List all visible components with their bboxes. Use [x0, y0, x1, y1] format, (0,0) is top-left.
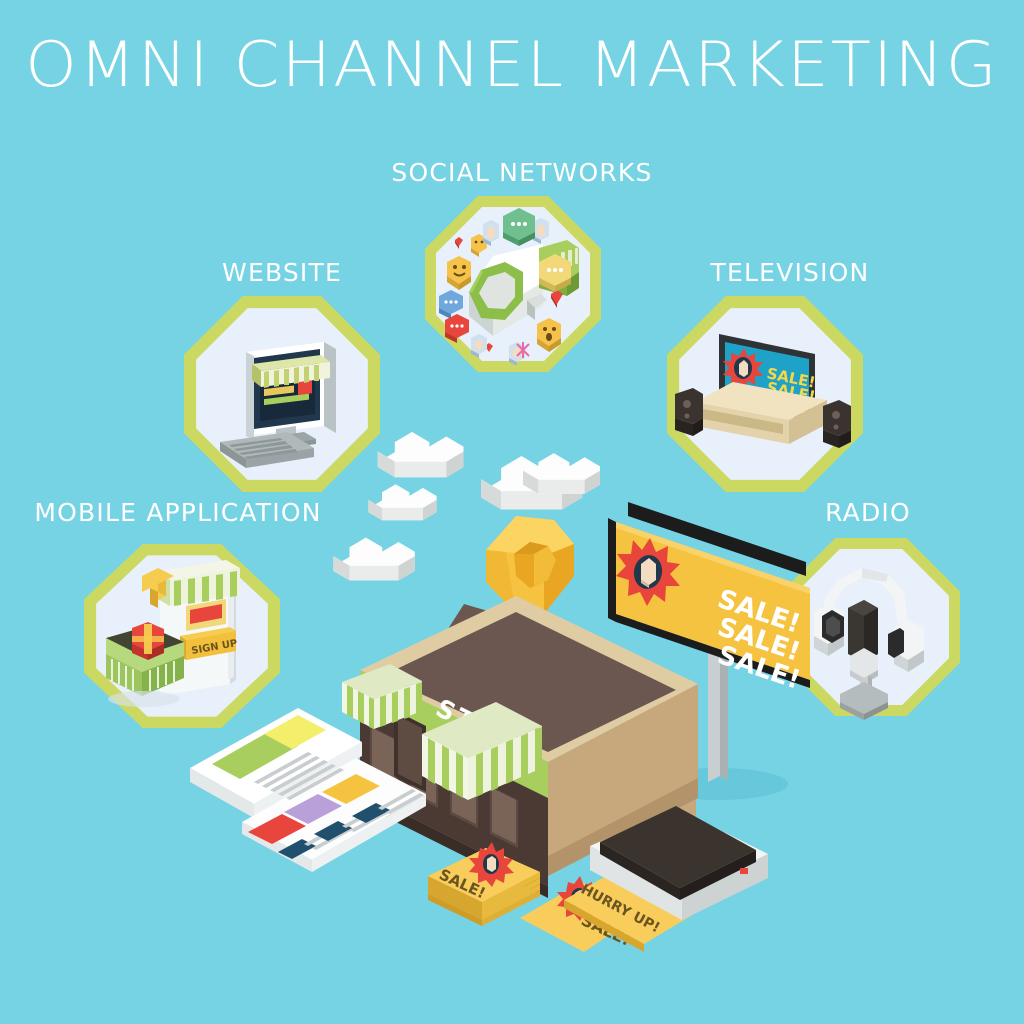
- infographic-canvas: OMNI CHANNEL MARKETING WEBSITE: [0, 0, 1024, 1024]
- label-website: WEBSITE: [152, 258, 412, 287]
- open-magazine-spread: [186, 686, 436, 876]
- page-title: OMNI CHANNEL MARKETING: [0, 34, 1024, 96]
- chat-bubble-icon: [503, 208, 535, 246]
- label-mobile-application: MOBILE APPLICATION: [28, 498, 328, 527]
- office-printer: HURRY UP!: [556, 808, 776, 958]
- label-social-networks: SOCIAL NETWORKS: [382, 158, 662, 187]
- emoji-surprised-icon: [537, 318, 561, 352]
- chat-bubble-icon: [439, 290, 463, 319]
- badge-social-networks[interactable]: [425, 196, 601, 372]
- label-television: TELEVISION: [640, 258, 940, 287]
- desktop-computer-storefront-icon: [184, 296, 380, 492]
- chat-bubble-icon: [445, 314, 469, 343]
- megaphone-emoji-icon: [425, 196, 601, 372]
- chat-bubble-icon: [539, 254, 571, 292]
- heart-icon: [455, 237, 463, 249]
- badge-television[interactable]: SALE! SALE! SALE!: [667, 296, 863, 492]
- television-set-icon: SALE! SALE! SALE!: [667, 296, 863, 492]
- thumbs-up-icon: [533, 218, 549, 244]
- emoji-smiley-icon: [447, 256, 471, 290]
- thumbs-up-icon: [471, 334, 487, 358]
- badge-website[interactable]: [184, 296, 380, 492]
- thumbs-up-icon: [483, 220, 499, 246]
